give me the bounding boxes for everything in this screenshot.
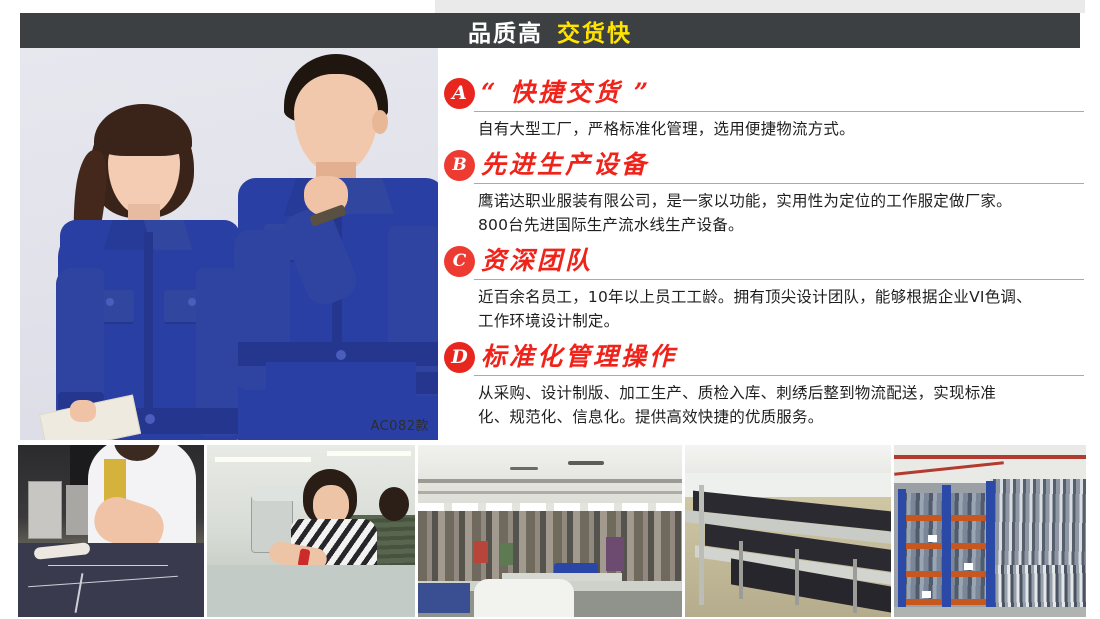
thumbnail-sewing-floor[interactable] — [418, 445, 683, 617]
feature-d-body: 从采购、设计制版、加工生产、质检入库、刺绣后整到物流配送，实现标准 化、规范化、… — [478, 381, 1084, 429]
feature-a-head: A “ 快捷交货 ” — [444, 78, 1084, 109]
feature-item-d: D 标准化管理操作 从采购、设计制版、加工生产、质检入库、刺绣后整到物流配送，实… — [444, 342, 1084, 429]
feature-b-line-1: 鹰诺达职业服装有限公司，是一家以功能，实用性为定位的工作服定做厂家。 — [478, 189, 1084, 213]
badge-d-icon: D — [444, 342, 475, 373]
banner-title-accent: 交货快 — [557, 14, 632, 48]
feature-b-title: 先进生产设备 — [481, 152, 649, 178]
feature-item-c: C 资深团队 近百余名员工，10年以上员工工龄。拥有顶尖设计团队，能够根据企业V… — [444, 246, 1084, 333]
feature-d-rule — [474, 375, 1084, 376]
thumbnail-production-line[interactable] — [685, 445, 891, 617]
feature-a-rule — [474, 111, 1084, 112]
feature-a-line-1: 自有大型工厂，严格标准化管理，选用便捷物流方式。 — [478, 117, 1084, 141]
feature-b-head: B 先进生产设备 — [444, 150, 1084, 181]
feature-list: A “ 快捷交货 ” 自有大型工厂，严格标准化管理，选用便捷物流方式。 B 先进… — [444, 78, 1084, 440]
banner-title-primary: 品质高 — [468, 14, 543, 48]
feature-c-rule — [474, 279, 1084, 280]
feature-c-body: 近百余名员工，10年以上员工工龄。拥有顶尖设计团队，能够根据企业VI色调、 工作… — [478, 285, 1084, 333]
headline-banner: 品质高 交货快 — [20, 13, 1080, 48]
feature-d-title: 标准化管理操作 — [481, 344, 677, 370]
badge-a-icon: A — [444, 78, 475, 109]
product-code-label: AC082款 — [370, 415, 429, 434]
feature-d-head: D 标准化管理操作 — [444, 342, 1084, 373]
badge-b-icon: B — [444, 150, 475, 181]
thumbnail-warehouse[interactable] — [894, 445, 1086, 617]
feature-a-body: 自有大型工厂，严格标准化管理，选用便捷物流方式。 — [478, 117, 1084, 141]
model-male — [232, 48, 438, 440]
thumbnail-cutting-fabric[interactable] — [18, 445, 204, 617]
feature-c-head: C 资深团队 — [444, 246, 1084, 277]
top-light-strip — [435, 0, 1085, 13]
headline-banner-inner: 品质高 交货快 — [468, 14, 632, 48]
feature-b-line-2: 800台先进国际生产流水线生产设备。 — [478, 213, 1084, 237]
factory-photo-strip — [18, 445, 1086, 617]
hero-product-photo[interactable]: AC082款 — [20, 48, 438, 440]
feature-c-line-1: 近百余名员工，10年以上员工工龄。拥有顶尖设计团队，能够根据企业VI色调、 — [478, 285, 1084, 309]
feature-item-b: B 先进生产设备 鹰诺达职业服装有限公司，是一家以功能，实用性为定位的工作服定做… — [444, 150, 1084, 237]
thumbnail-sewing-operator[interactable] — [207, 445, 415, 617]
feature-b-body: 鹰诺达职业服装有限公司，是一家以功能，实用性为定位的工作服定做厂家。 800台先… — [478, 189, 1084, 237]
feature-b-rule — [474, 183, 1084, 184]
feature-c-line-2: 工作环境设计制定。 — [478, 309, 1084, 333]
feature-a-title: “ 快捷交货 ” — [481, 80, 651, 106]
feature-d-line-2: 化、规范化、信息化。提供高效快捷的优质服务。 — [478, 405, 1084, 429]
feature-d-line-1: 从采购、设计制版、加工生产、质检入库、刺绣后整到物流配送，实现标准 — [478, 381, 1084, 405]
page-root: 品质高 交货快 — [0, 0, 1100, 619]
feature-c-title: 资深团队 — [481, 248, 593, 274]
model-female — [60, 92, 240, 440]
badge-c-icon: C — [444, 246, 475, 277]
feature-item-a: A “ 快捷交货 ” 自有大型工厂，严格标准化管理，选用便捷物流方式。 — [444, 78, 1084, 141]
